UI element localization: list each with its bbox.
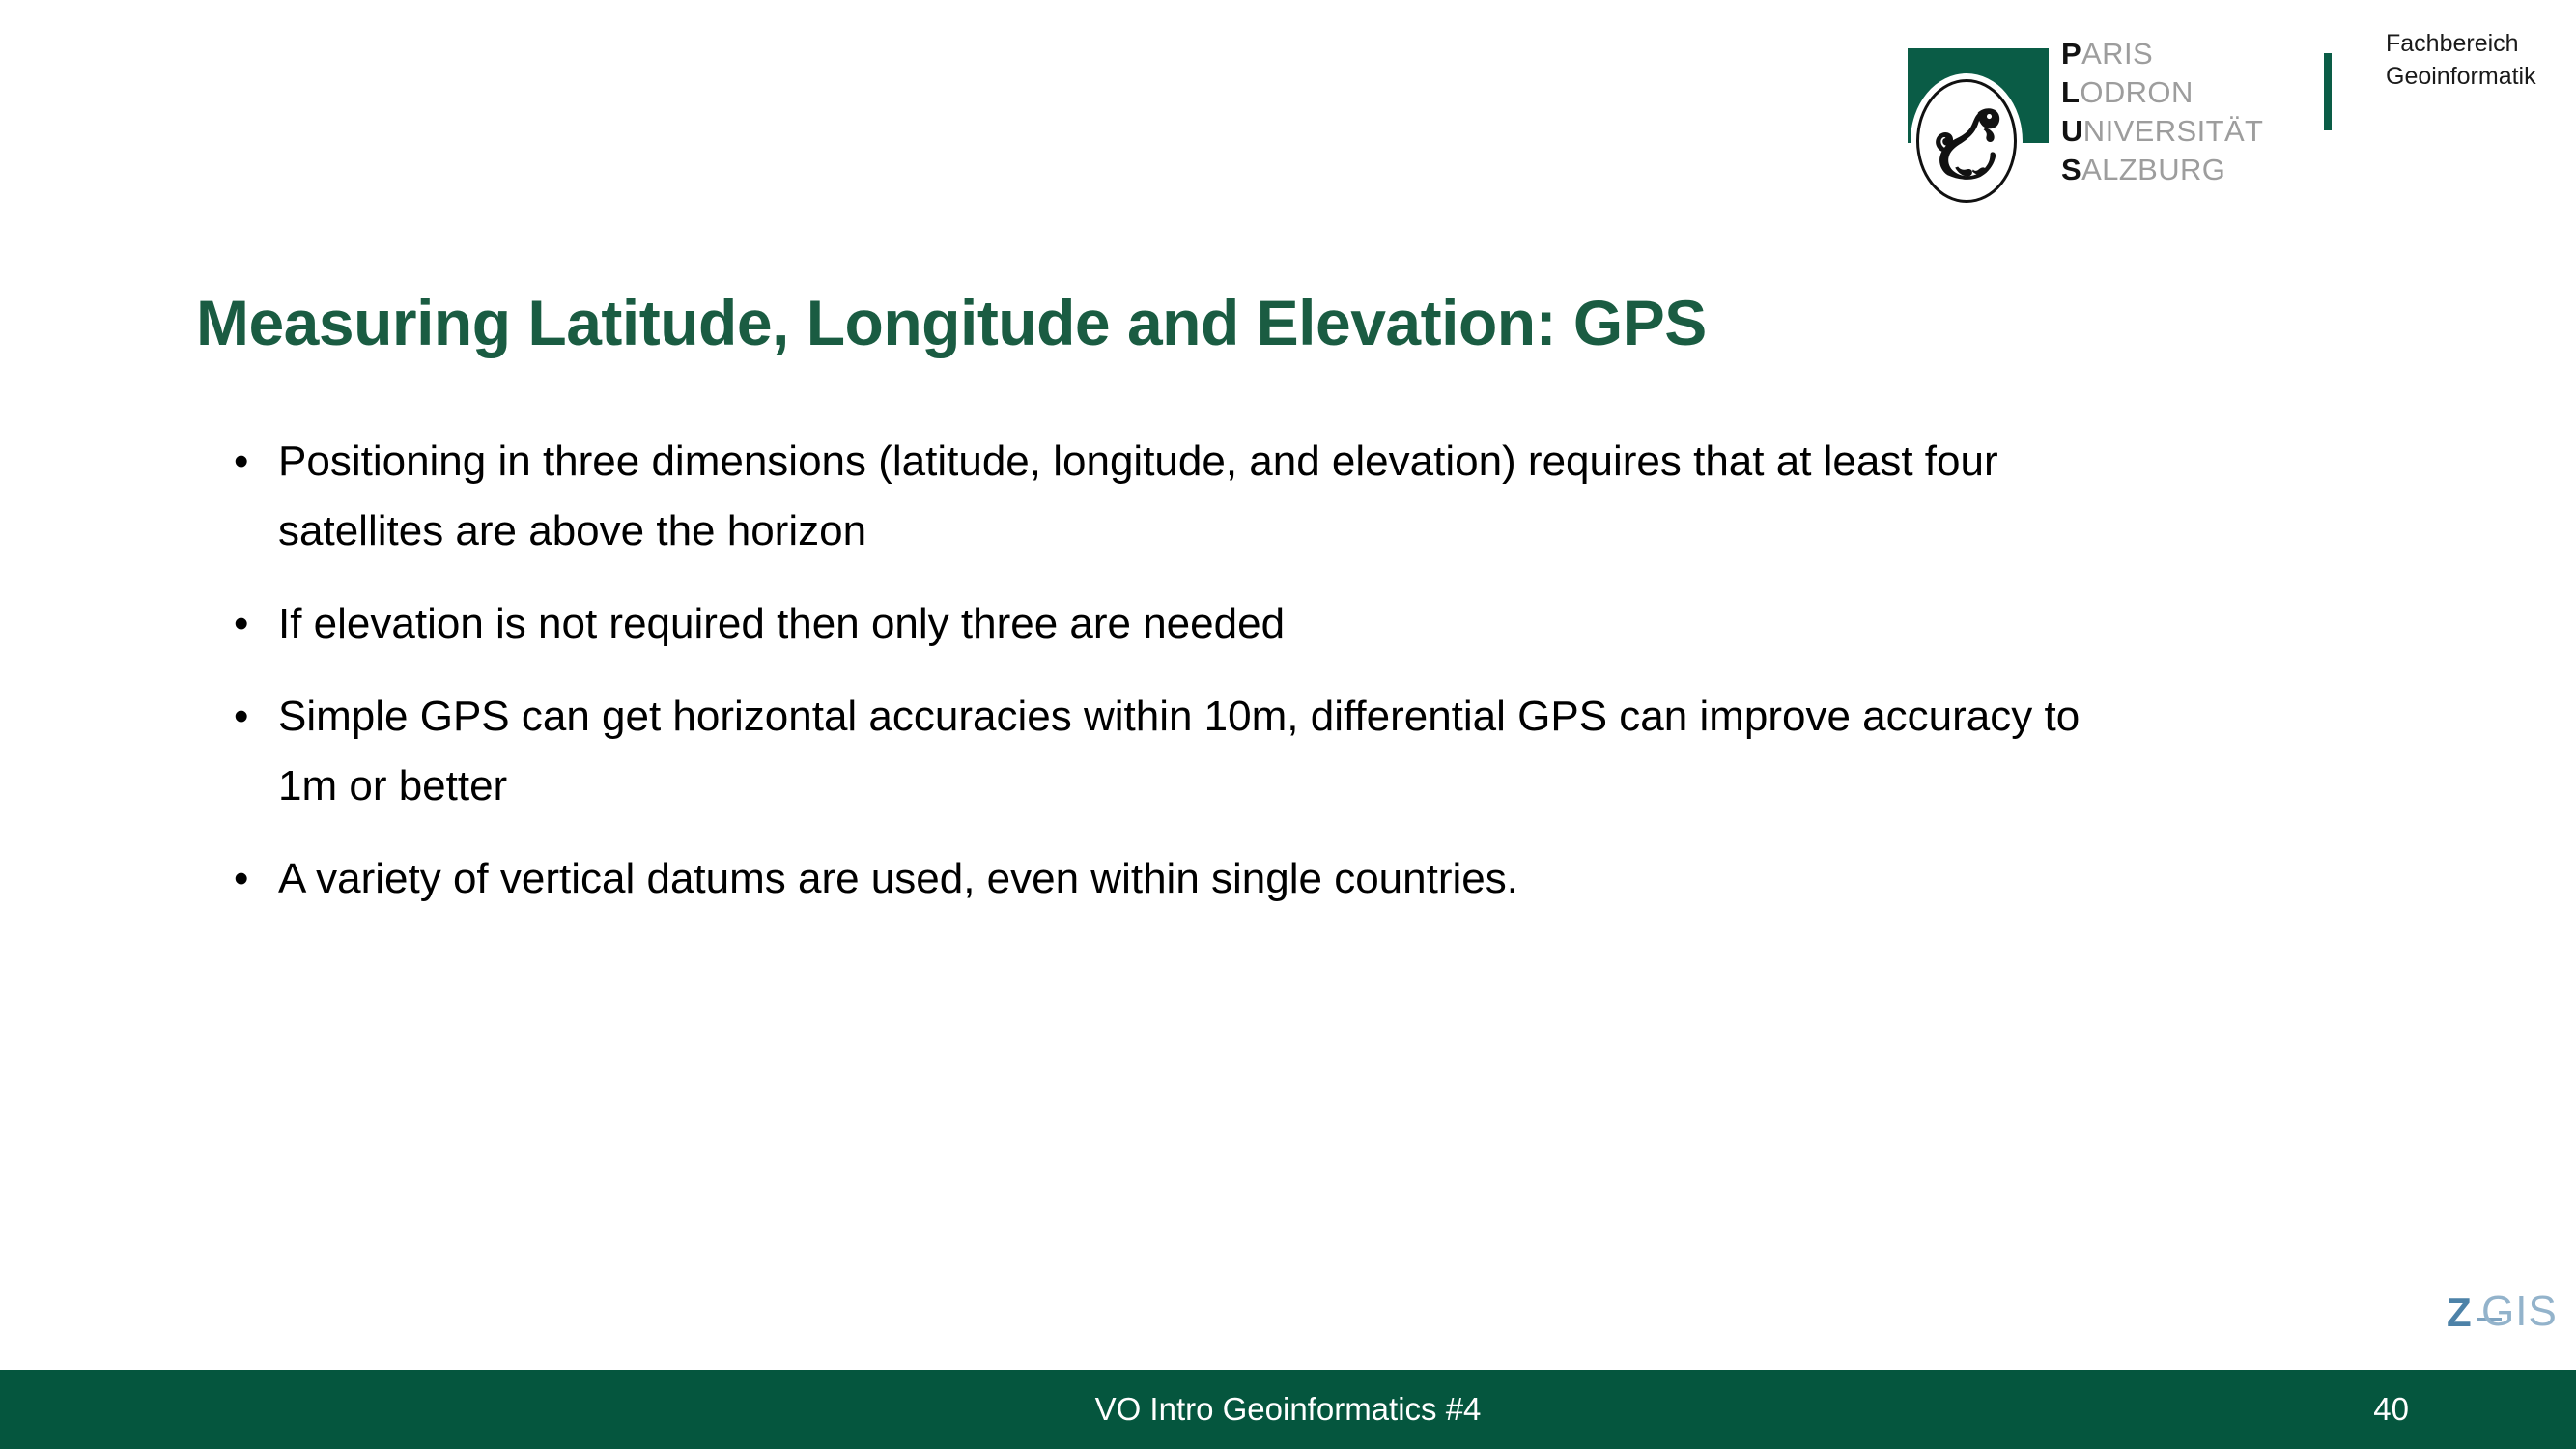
- list-item: • If elevation is not required then only…: [220, 589, 2152, 659]
- list-item: • A variety of vertical datums are used,…: [220, 844, 2152, 914]
- wordmark-lead-l: L: [2061, 75, 2080, 109]
- footer-page-number: 40: [2373, 1370, 2409, 1449]
- wordmark-line-paris: PARIS: [2061, 35, 2312, 73]
- list-item: • Simple GPS can get horizontal accuraci…: [220, 682, 2152, 821]
- seal-ring: [1916, 79, 2017, 203]
- slide-canvas: PARIS LODRON UNIVERSITÄT SALZBURG Fachbe…: [0, 0, 2576, 1449]
- bullet-dot-icon: •: [220, 589, 278, 659]
- list-item-text: Positioning in three dimensions (latitud…: [278, 427, 2133, 566]
- wordmark-line-universitaet: UNIVERSITÄT: [2061, 112, 2312, 151]
- salzburg-lion-seal-icon: [1911, 73, 2023, 209]
- wordmark-lead-p: P: [2061, 37, 2081, 71]
- list-item-text: If elevation is not required then only t…: [278, 589, 2133, 659]
- bullet-list: • Positioning in three dimensions (latit…: [220, 427, 2152, 937]
- bullet-dot-icon: •: [220, 844, 278, 914]
- department-line-1: Fachbereich: [2386, 27, 2569, 60]
- list-item-text: Simple GPS can get horizontal accuracies…: [278, 682, 2133, 821]
- wordmark-rest-aris: ARIS: [2081, 37, 2153, 71]
- wordmark-rest-alzburg: ALZBURG: [2081, 153, 2225, 186]
- zgis-letters-gis: GIS: [2481, 1288, 2558, 1336]
- plus-wordmark: PARIS LODRON UNIVERSITÄT SALZBURG: [2061, 35, 2312, 189]
- logo-divider: [2324, 53, 2332, 130]
- department-label: Fachbereich Geoinformatik: [2386, 27, 2569, 93]
- footer-course-label: VO Intro Geoinformatics #4: [0, 1370, 2576, 1449]
- wordmark-lead-s: S: [2061, 153, 2081, 186]
- department-line-2: Geoinformatik: [2386, 60, 2569, 93]
- zgis-letter-z: Z: [2447, 1289, 2472, 1337]
- bullet-dot-icon: •: [220, 682, 278, 752]
- page-title: Measuring Latitude, Longitude and Elevat…: [196, 290, 2418, 356]
- list-item-text: A variety of vertical datums are used, e…: [278, 844, 2133, 914]
- list-item: • Positioning in three dimensions (latit…: [220, 427, 2152, 566]
- wordmark-rest-odron: ODRON: [2080, 75, 2193, 109]
- wordmark-rest-niversitaet: NIVERSITÄT: [2083, 114, 2264, 148]
- plus-university-logo: PARIS LODRON UNIVERSITÄT SALZBURG: [1895, 17, 2330, 216]
- wordmark-lead-u: U: [2061, 114, 2083, 148]
- wordmark-line-salzburg: SALZBURG: [2061, 151, 2312, 189]
- bullet-dot-icon: •: [220, 427, 278, 497]
- wordmark-line-lodron: LODRON: [2061, 73, 2312, 112]
- zgis-logo: Z GIS: [2447, 1289, 2572, 1343]
- footer-bar: VO Intro Geoinformatics #4 40: [0, 1370, 2576, 1449]
